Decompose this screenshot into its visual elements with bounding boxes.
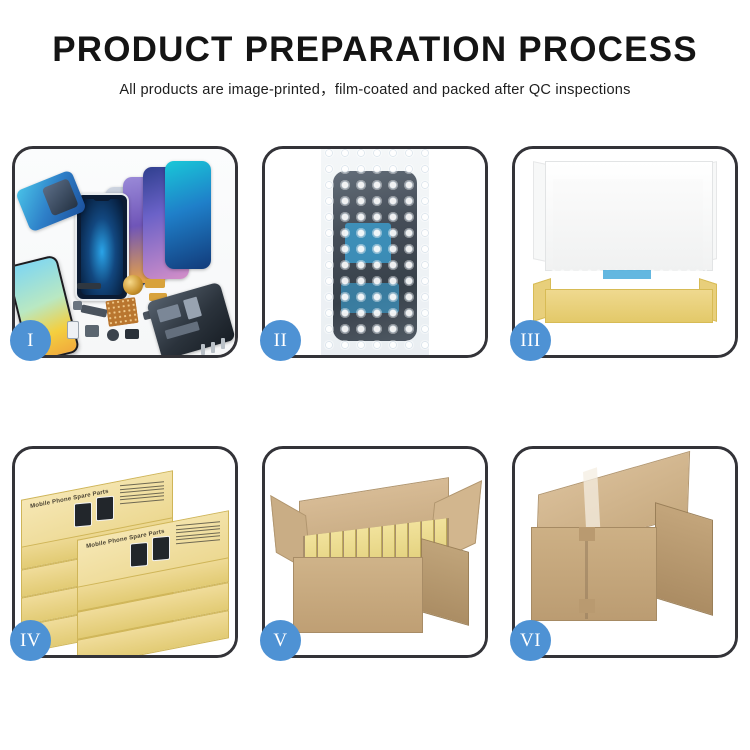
screw-icon [221,338,225,349]
step-1-image [15,149,235,355]
step-4-image: Mobile Phone Spare Parts Mobile Phone Sp… [15,449,235,655]
phone-print-icon [74,502,92,528]
box-stack-icon: Mobile Phone Spare Parts Mobile Phone Sp… [21,463,233,655]
page-title: PRODUCT PREPARATION PROCESS [0,32,750,69]
process-step-panel-5: V [262,446,488,658]
carton-side-icon [421,538,469,626]
coil-part-icon [123,275,143,295]
box-front-icon [545,289,713,323]
step-3-image [515,149,735,355]
step-badge-4: IV [10,620,51,661]
carton-tab-icon [579,527,595,541]
carton-tab-icon [579,599,595,613]
carton-front-icon [293,557,423,633]
step-badge-3: III [510,320,551,361]
process-step-panel-3: III [512,146,738,358]
phone-print-icon [130,542,148,568]
phone-screen-icon [165,161,211,269]
step-badge-5: V [260,620,301,661]
spare-part-icon [73,301,82,310]
process-step-panel-4: Mobile Phone Spare Parts Mobile Phone Sp… [12,446,238,658]
spare-part-icon [77,283,101,289]
foam-lining-icon [553,179,703,271]
spare-part-icon [85,325,99,337]
carton-side-icon [655,502,713,616]
process-steps-grid: I II III [12,146,738,658]
spare-part-icon [125,329,139,339]
spare-part-icon [107,329,119,341]
phone-print-icon [96,496,114,522]
bubble-wrap-outline [321,149,429,355]
screw-icon [211,342,215,353]
flex-cable-icon [145,279,165,288]
notch-icon [93,197,111,201]
process-step-panel-2: II [262,146,488,358]
process-step-panel-1: I [12,146,238,358]
spare-part-icon [67,321,79,339]
spec-lines-icon [176,521,220,546]
step-6-image [515,449,735,655]
spare-part-icon [80,304,107,317]
step-2-image [265,149,485,355]
phone-print-icon [152,536,170,562]
step-5-image [265,449,485,655]
spec-lines-icon [120,481,164,506]
step-badge-1: I [10,320,51,361]
screw-icon [201,344,205,355]
page-subtitle: All products are image-printed，film-coat… [0,78,750,99]
step-badge-6: VI [510,620,551,661]
step-badge-2: II [260,320,301,361]
process-step-panel-6: VI [512,446,738,658]
header: PRODUCT PREPARATION PROCESS All products… [0,0,750,99]
chip-part-icon [105,297,138,327]
